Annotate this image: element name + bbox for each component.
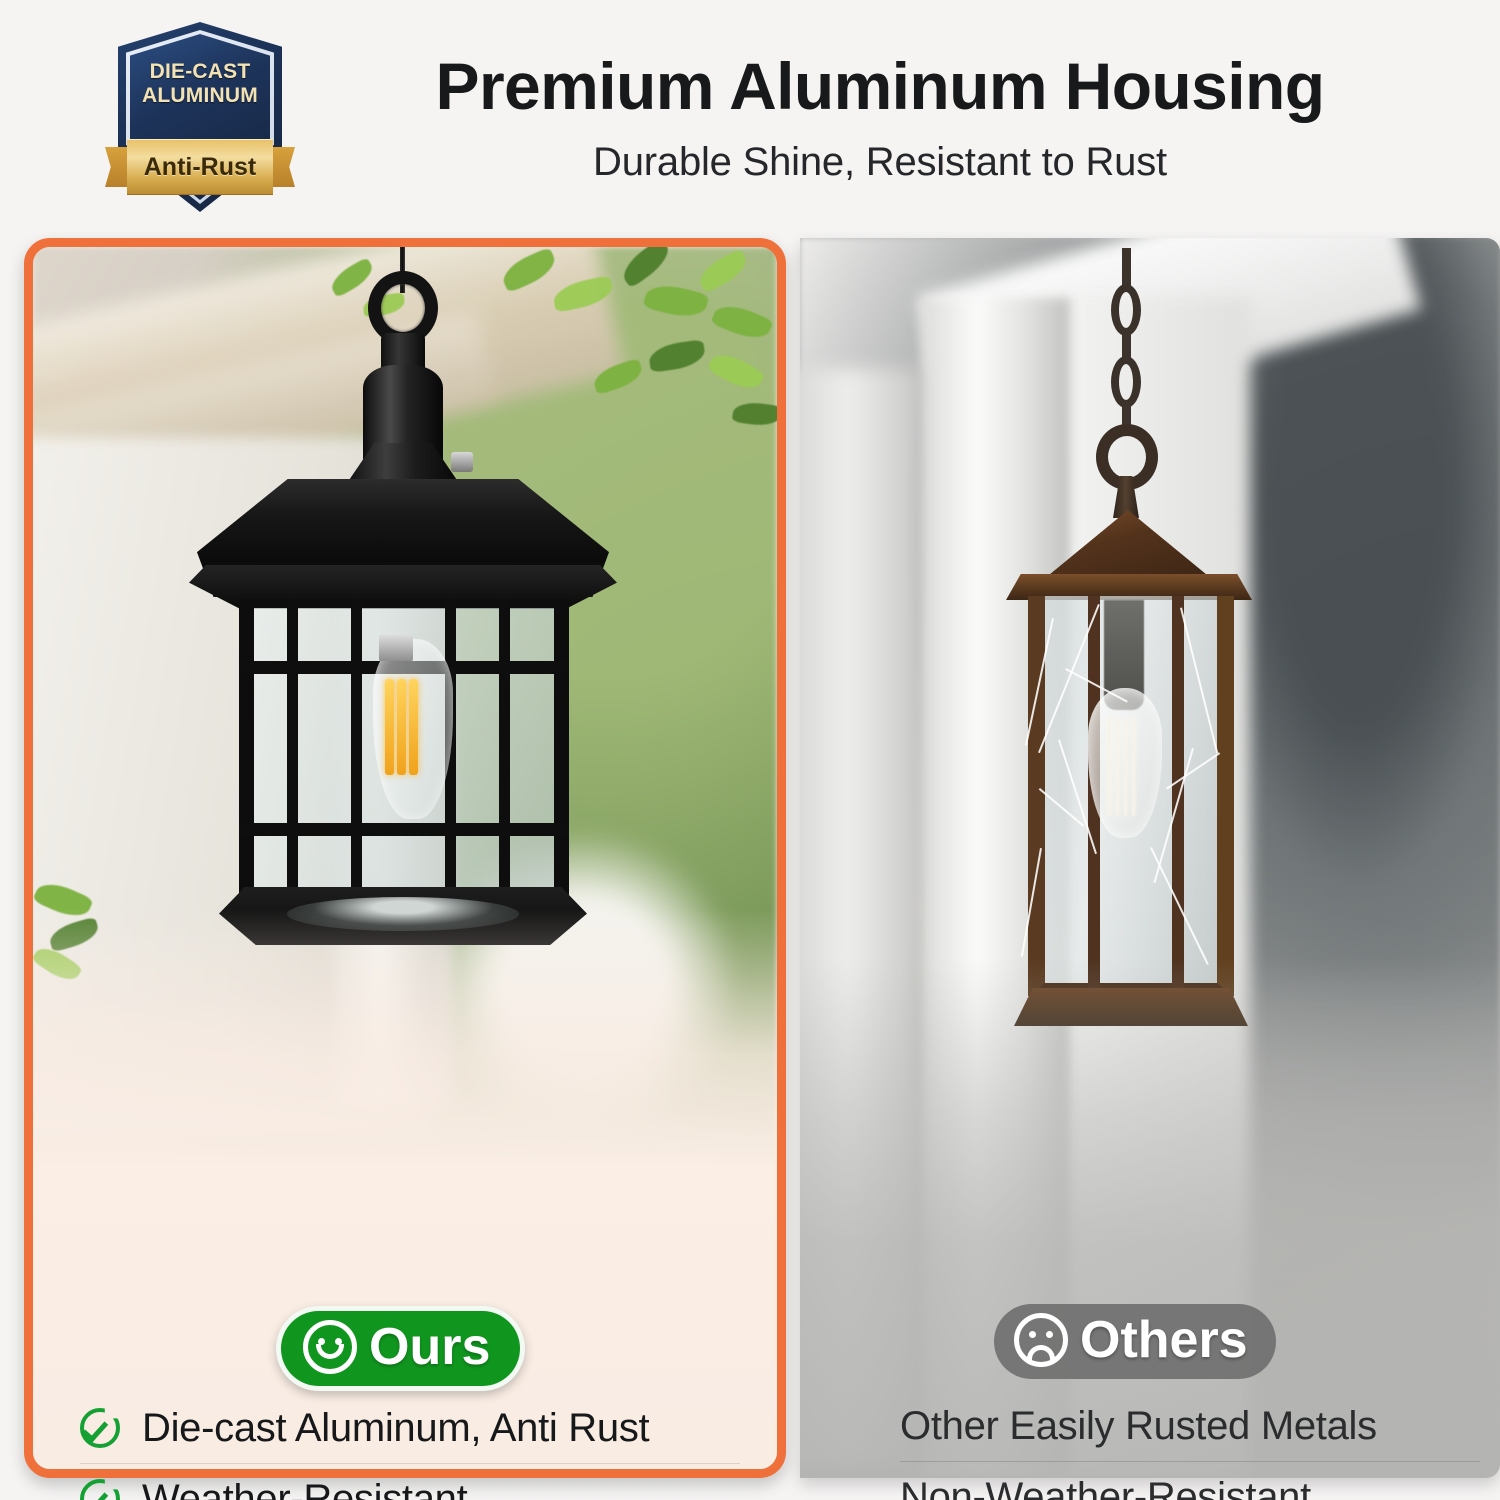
- lantern-roof: [1038, 510, 1218, 584]
- chain-link-icon: [1111, 356, 1141, 408]
- badge-ribbon: Anti-Rust: [105, 139, 295, 195]
- others-panel: [800, 238, 1500, 1478]
- list-item: Die-cast Aluminum, Anti Rust: [80, 1393, 740, 1464]
- filament-icon: [1132, 718, 1135, 816]
- ribbon-label: Anti-Rust: [127, 139, 273, 195]
- badge-line-2: ALUMINUM: [130, 84, 270, 108]
- mullion-vertical: [499, 599, 510, 895]
- filament-icon: [1108, 718, 1111, 816]
- filament-icon: [1116, 718, 1119, 816]
- ours-feature-label: Weather-Resistant: [142, 1477, 467, 1500]
- list-item: Weather-Resistant: [80, 1464, 740, 1500]
- page-subtitle: Durable Shine, Resistant to Rust: [300, 140, 1460, 185]
- smiley-face-icon: [303, 1320, 357, 1374]
- filament-icon: [1124, 718, 1127, 816]
- badge-text: DIE-CAST ALUMINUM: [130, 60, 270, 107]
- ours-feature-label: Die-cast Aluminum, Anti Rust: [142, 1406, 649, 1451]
- infographic-root: DIE-CAST ALUMINUM Anti-Rust Premium Alum…: [0, 0, 1500, 1500]
- mullion-horizontal: [239, 823, 569, 836]
- page-title: Premium Aluminum Housing: [300, 48, 1460, 124]
- comparison-panels: Ours Others Die-cast Aluminum, Anti Rust…: [0, 238, 1500, 1486]
- ours-panel: [24, 238, 786, 1478]
- ours-product-photo: [33, 247, 777, 1469]
- others-feature-list: Other Easily Rusted Metals Non-Weather-R…: [900, 1391, 1480, 1500]
- filament-icon: [397, 679, 406, 775]
- others-badge-label: Others: [1080, 1314, 1248, 1366]
- filament-icon: [385, 679, 394, 775]
- others-badge: Others: [994, 1304, 1276, 1379]
- badge-line-1: DIE-CAST: [130, 60, 270, 84]
- chain-link-icon: [1111, 284, 1141, 336]
- bulb-cap: [379, 635, 413, 661]
- others-feature-label: Other Easily Rusted Metals: [900, 1404, 1377, 1449]
- others-product-photo: [800, 238, 1500, 1478]
- die-cast-aluminum-badge: DIE-CAST ALUMINUM Anti-Rust: [105, 22, 295, 217]
- list-item: Other Easily Rusted Metals: [900, 1391, 1480, 1462]
- check-circle-icon: [80, 1408, 120, 1448]
- mullion-vertical: [287, 599, 298, 895]
- mullion-vertical: [351, 599, 362, 895]
- ours-badge-label: Ours: [369, 1321, 490, 1373]
- set-screw-icon: [451, 452, 473, 472]
- others-feature-label: Non-Weather-Resistant: [900, 1475, 1311, 1500]
- filament-icon: [409, 679, 418, 775]
- ours-badge: Ours: [276, 1306, 525, 1391]
- ours-feature-list: Die-cast Aluminum, Anti Rust Weather-Res…: [80, 1393, 740, 1500]
- check-circle-icon: [80, 1479, 120, 1500]
- list-item: Non-Weather-Resistant: [900, 1462, 1480, 1500]
- ours-lantern: [183, 247, 623, 967]
- frowny-face-icon: [1014, 1313, 1068, 1367]
- header: DIE-CAST ALUMINUM Anti-Rust Premium Alum…: [0, 0, 1500, 235]
